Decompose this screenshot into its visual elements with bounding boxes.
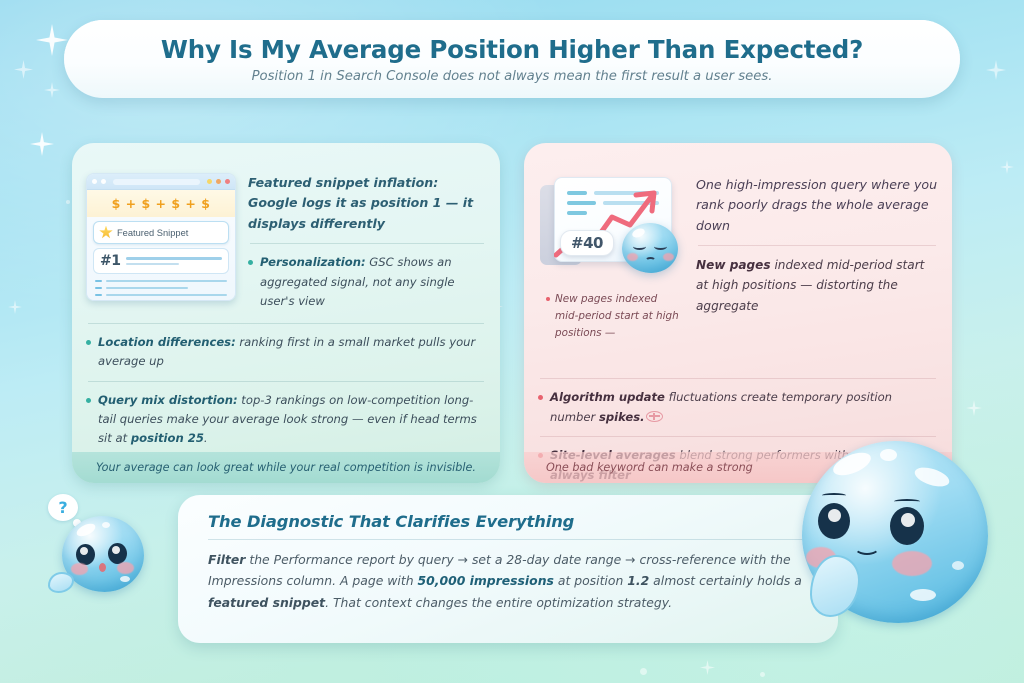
overlap-fragment-text: New pages indexed mid-period start at hi… [555,291,681,342]
panel-better-than-reality: $ + $ + $ + $ Featured Snippet #1 [72,143,500,483]
left-bullet-location: Location differences: ranking first in a… [86,333,486,372]
eye-highlight [112,546,120,554]
bullet-dot-icon [248,260,253,265]
overlap-text-fragment: New pages indexed mid-period start at hi… [546,291,681,342]
left-footer-text: Your average can look great while your r… [96,461,476,474]
panel-worse-than-reality: #40 One high-impression query where you … [524,143,952,483]
sparkle-dot [640,668,647,675]
browser-title-bar [87,174,235,190]
diagnostic-title: The Diagnostic That Clarifies Everything [208,512,808,531]
bullet-lead-in: New pages [696,258,771,272]
sparkle-decoration [986,60,1006,80]
left-panel-footer: Your average can look great while your r… [72,452,500,483]
blob-frown [645,257,656,264]
right-bullet-new-pages: New pages indexed mid-period start at hi… [696,255,938,316]
sparkle-decoration [700,660,715,675]
rank-one-result: #1 [93,248,229,274]
result-list-row [95,280,227,282]
list-bullet-icon [95,294,102,296]
sparkle-decoration [44,82,60,98]
address-bar-placeholder [113,179,200,185]
sparkle-decoration [966,400,982,416]
window-dot-icon [101,179,106,184]
sparkle-decoration [8,300,22,314]
blob-mouth [99,563,106,572]
sparkle-dot [760,672,765,677]
mascot-curious-blob: ? [42,492,160,604]
result-line [126,263,179,266]
window-dot-icon [216,179,221,184]
blob-body [62,516,144,592]
diagnostic-featured-snippet: featured snippet [208,595,325,610]
left-lead-text: Featured snippet inflation: Google logs … [248,173,486,234]
window-dot-icon [207,179,212,184]
diagnostic-text-4: . That context changes the entire optimi… [325,595,672,610]
blob-shine [120,576,130,582]
blob-cheek-right [663,253,674,261]
bullet-lead-in: Personalization: [260,255,366,269]
blob-brow-left [822,493,846,498]
result-list-lines [95,280,227,296]
bullet-body: Personalization: GSC shows an aggregated… [260,253,486,311]
chart-card-illustration: #40 [538,173,688,289]
thought-bubble: ? [48,494,78,521]
bullet-body: Algorithm update fluctuations create tem… [550,388,938,427]
blob-cheek-right [117,562,134,574]
bullet-dot-icon [538,395,543,400]
diagnostic-text-3: almost certainly holds a [649,573,802,588]
blob-cheek-right [892,551,932,576]
infographic-canvas: Why Is My Average Position Higher Than E… [0,0,1024,683]
sparkle-decoration [1000,160,1014,174]
sad-blob-character [622,223,678,273]
diagnostic-card: The Diagnostic That Clarifies Everything… [178,495,838,643]
divider [88,381,484,382]
featured-snippet-label: Featured Snippet [117,228,188,238]
blob-shine [910,589,936,601]
diagnostic-position-value: 1.2 [627,573,649,588]
right-lead-text: One high-impression query where you rank… [696,175,938,236]
right-footer-text: One bad keyword can make a strong [546,461,753,474]
blob-eye-left [633,243,646,250]
blob-shine [631,227,646,239]
bullet-body: New pages indexed mid-period start at hi… [696,255,938,316]
sparkle-decoration [36,24,68,56]
sparkle-decoration [14,60,33,79]
diagnostic-text-2: at position [554,573,627,588]
divider [88,323,484,324]
left-top-row: $ + $ + $ + $ Featured Snippet #1 [86,173,486,312]
right-bullet-algorithm-update: Algorithm update fluctuations create tem… [538,388,938,427]
bullet-lead-in: Algorithm update [550,390,665,404]
bullet-body: Query mix distortion: top-3 rankings on … [98,391,486,449]
browser-mockup-illustration: $ + $ + $ + $ Featured Snippet #1 [86,173,236,301]
window-dot-icon [225,179,230,184]
list-line [106,287,188,289]
divider [540,378,936,379]
left-bullet-query-mix: Query mix distortion: top-3 rankings on … [86,391,486,449]
blob-shine [75,521,97,539]
divider [250,243,484,244]
bullet-lead-in: Query mix distortion: [98,393,238,407]
left-bullet-personalization: Personalization: GSC shows an aggregated… [248,253,486,311]
eye-highlight [901,513,915,527]
result-list-row [95,294,227,296]
result-text-lines [126,257,228,265]
result-list-row [95,287,227,289]
blob-brow-right [894,499,920,504]
blob-cheek-left [71,563,88,575]
divider [698,245,936,246]
right-lead-column: One high-impression query where you rank… [696,173,938,316]
blob-shine [830,448,874,480]
featured-snippet-box: Featured Snippet [93,221,229,244]
bullet-emphasis: spikes. [599,410,645,424]
blob-shine [880,449,897,461]
diagnostic-impressions: 50,000 impressions [418,573,554,588]
page-subtitle: Position 1 in Search Console does not al… [252,69,773,84]
sparkle-decoration [30,132,54,156]
water-droplet-icon [48,572,74,593]
bullet-dot-icon [546,297,550,301]
sparkle-dot [66,200,70,204]
list-line [106,280,227,282]
bullet-body: Location differences: ranking first in a… [98,333,486,372]
diagnostic-filter-word: Filter [208,552,245,567]
list-line [106,294,227,296]
ads-row-label: $ + $ + $ + $ [112,196,211,211]
blob-shine [952,561,964,570]
bullet-dot-icon [86,398,91,403]
divider [208,539,808,540]
question-mark-icon: ? [58,498,67,517]
eye-highlight [80,547,88,555]
left-panel-body: $ + $ + $ + $ Featured Snippet #1 [86,173,486,483]
rank-40-badge: #40 [560,230,614,256]
blob-smile [854,539,880,555]
bullet-tail: . [204,431,208,445]
diagnostic-body: Filter the Performance report by query →… [208,549,808,613]
blob-shine [102,522,110,528]
mascot-smiling-blob [798,437,1010,647]
window-dot-icon [92,179,97,184]
eye-highlight [828,509,841,522]
blob-cheek-left [627,253,638,261]
left-lead-column: Featured snippet inflation: Google logs … [248,173,486,312]
spike-oval-icon [646,411,663,422]
bullet-lead-in: Location differences: [98,335,236,349]
list-bullet-icon [95,280,102,282]
rank-badge-label: #1 [100,253,120,269]
title-card: Why Is My Average Position Higher Than E… [64,20,960,98]
bullet-emphasis: position 25 [131,431,204,445]
ads-row: $ + $ + $ + $ [87,190,235,217]
result-line [126,257,222,260]
blob-shine [912,464,951,490]
blob-eye-right [654,243,667,250]
star-icon [99,226,113,240]
page-title: Why Is My Average Position Higher Than E… [161,35,863,64]
list-bullet-icon [95,287,102,289]
bullet-dot-icon [86,340,91,345]
